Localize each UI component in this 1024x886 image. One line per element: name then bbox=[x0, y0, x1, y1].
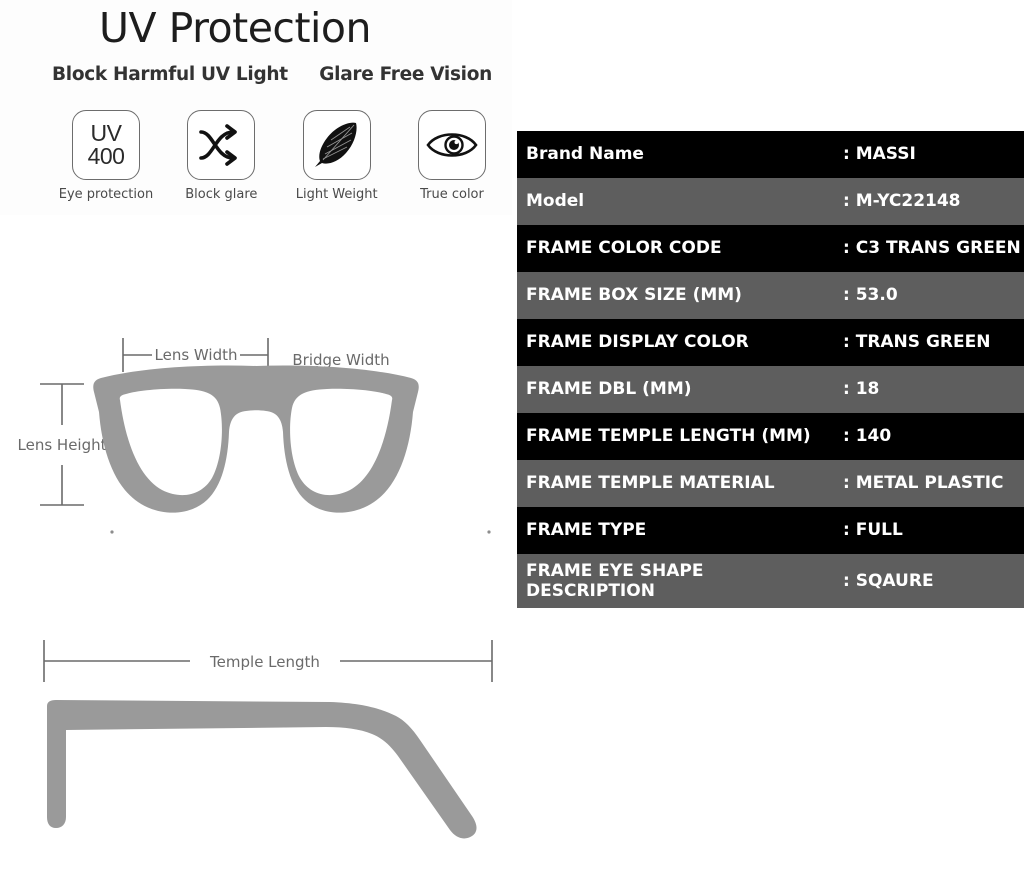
feature-icon-row: UV 400 Eye protection bbox=[58, 110, 500, 202]
feature-label-true-color: True color bbox=[420, 187, 484, 202]
frame-measurement-diagram: Lens Width Bridge Width Lens Height bbox=[0, 300, 512, 575]
spec-key-frame-color-code: FRAME COLOR CODE bbox=[517, 238, 843, 258]
product-spec-page: UV Protection Block Harmful UV Light Gla… bbox=[0, 0, 1024, 886]
table-row: Brand Name : MASSI bbox=[517, 131, 1024, 178]
table-row: FRAME TYPE : FULL bbox=[517, 507, 1024, 554]
spec-key-frame-temple-material: FRAME TEMPLE MATERIAL bbox=[517, 473, 843, 493]
uv400-icon-bottom-text: 400 bbox=[88, 145, 125, 168]
uv-protection-banner: UV Protection Block Harmful UV Light Gla… bbox=[0, 0, 512, 215]
table-row: FRAME DBL (MM) : 18 bbox=[517, 366, 1024, 413]
spec-value-frame-eye-shape-description: : SQAURE bbox=[843, 571, 1024, 591]
feather-icon bbox=[303, 110, 371, 180]
table-row: FRAME TEMPLE LENGTH (MM) : 140 bbox=[517, 413, 1024, 460]
spec-value-frame-temple-material: : METAL PLASTIC bbox=[843, 473, 1024, 493]
table-row: Model : M-YC22148 bbox=[517, 178, 1024, 225]
temple-arm-shape bbox=[47, 700, 477, 838]
product-spec-table: Brand Name : MASSI Model : M-YC22148 FRA… bbox=[517, 131, 1024, 608]
table-row: FRAME TEMPLE MATERIAL : METAL PLASTIC bbox=[517, 460, 1024, 507]
spec-value-brand-name: : MASSI bbox=[843, 144, 1024, 164]
spec-value-frame-type: : FULL bbox=[843, 520, 1024, 540]
spec-key-frame-eye-shape-description: FRAME EYE SHAPE DESCRIPTION bbox=[517, 561, 843, 601]
spec-value-frame-display-color: : TRANS GREEN bbox=[843, 332, 1024, 352]
eyeglass-frame-shape bbox=[93, 366, 490, 534]
temple-length-label: Temple Length bbox=[209, 653, 320, 671]
spec-value-frame-dbl: : 18 bbox=[843, 379, 1024, 399]
banner-subtitle-right: Glare Free Vision bbox=[319, 64, 492, 85]
spec-key-frame-type: FRAME TYPE bbox=[517, 520, 843, 540]
spec-value-frame-box-size: : 53.0 bbox=[843, 285, 1024, 305]
table-row: FRAME DISPLAY COLOR : TRANS GREEN bbox=[517, 319, 1024, 366]
spec-key-brand-name: Brand Name bbox=[517, 144, 843, 164]
eye-icon bbox=[418, 110, 486, 180]
shuffle-arrows-icon bbox=[187, 110, 255, 180]
feature-eye-protection: UV 400 Eye protection bbox=[58, 110, 154, 202]
table-row: FRAME EYE SHAPE DESCRIPTION : SQAURE bbox=[517, 554, 1024, 608]
spec-key-model: Model bbox=[517, 191, 843, 211]
feature-light-weight: Light Weight bbox=[289, 110, 385, 202]
banner-subtitles: Block Harmful UV Light Glare Free Vision bbox=[52, 64, 492, 85]
hinge-dot-left bbox=[110, 530, 113, 533]
spec-key-frame-dbl: FRAME DBL (MM) bbox=[517, 379, 843, 399]
spec-value-model: : M-YC22148 bbox=[843, 191, 1024, 211]
banner-subtitle-left: Block Harmful UV Light bbox=[52, 64, 288, 85]
banner-title: UV Protection bbox=[0, 4, 470, 52]
feature-label-block-glare: Block glare bbox=[185, 187, 257, 202]
feature-block-glare: Block glare bbox=[173, 110, 269, 202]
temple-measurement-diagram: Temple Length bbox=[0, 620, 512, 870]
uv400-icon: UV 400 bbox=[72, 110, 140, 180]
uv400-icon-top-text: UV bbox=[88, 122, 125, 145]
spec-value-frame-temple-length: : 140 bbox=[843, 426, 1024, 446]
lens-width-label: Lens Width bbox=[155, 346, 238, 364]
spec-key-frame-box-size: FRAME BOX SIZE (MM) bbox=[517, 285, 843, 305]
feature-label-light-weight: Light Weight bbox=[296, 187, 378, 202]
table-row: FRAME BOX SIZE (MM) : 53.0 bbox=[517, 272, 1024, 319]
table-row: FRAME COLOR CODE : C3 TRANS GREEN bbox=[517, 225, 1024, 272]
spec-value-frame-color-code: : C3 TRANS GREEN bbox=[843, 238, 1024, 258]
feature-label-eye-protection: Eye protection bbox=[59, 187, 153, 202]
spec-key-frame-display-color: FRAME DISPLAY COLOR bbox=[517, 332, 843, 352]
hinge-dot-right bbox=[487, 530, 490, 533]
spec-key-frame-temple-length: FRAME TEMPLE LENGTH (MM) bbox=[517, 426, 843, 446]
feature-true-color: True color bbox=[404, 110, 500, 202]
lens-height-label: Lens Height bbox=[18, 436, 107, 454]
